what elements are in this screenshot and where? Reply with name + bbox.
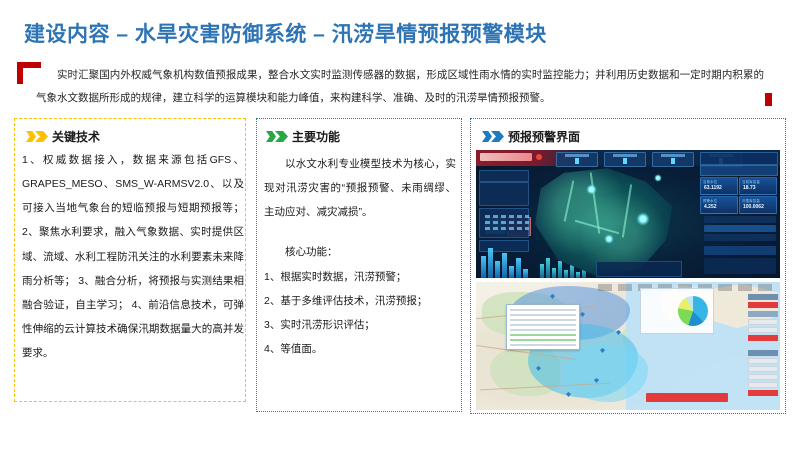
map-right-control-panel[interactable]	[748, 294, 778, 406]
panel-heading-forecast-warning-ui: 预报预警界面	[482, 128, 580, 145]
control-button-neutral-1[interactable]	[748, 319, 778, 325]
panel-heading-label: 关键技术	[52, 128, 100, 145]
popup-row	[510, 329, 576, 331]
stat-label: 当前水位	[703, 179, 717, 184]
pie-chart	[678, 296, 708, 326]
station-glow-marker[interactable]	[636, 212, 650, 226]
gis-canvas	[476, 282, 780, 410]
stat-value: 63.1192	[704, 185, 722, 191]
kpi-card-2[interactable]	[604, 152, 646, 167]
control-button-alert-3[interactable]	[748, 390, 778, 396]
right-panel-row-highlight	[704, 225, 776, 232]
station-glow-marker[interactable]	[654, 174, 662, 182]
right-panel-chart	[704, 258, 776, 274]
right-panel-title	[700, 152, 778, 165]
page-title: 建设内容 – 水旱灾害防御系统 – 汛涝旱情预报预警模块	[24, 18, 547, 48]
right-panel-row	[704, 216, 776, 223]
control-button-neutral-5[interactable]	[748, 374, 778, 380]
right-panel-row	[704, 234, 776, 241]
map-info-popup[interactable]	[506, 304, 580, 350]
stat-label: 当前库容量	[742, 179, 760, 184]
map-primary-action-button[interactable]	[646, 393, 728, 402]
alarm-dot-icon	[536, 154, 542, 160]
popup-row	[510, 344, 576, 346]
control-panel-header	[748, 311, 778, 317]
stat-card-storage: 当前库容量 18.73	[739, 177, 777, 195]
kpi-card-3[interactable]	[652, 152, 694, 167]
main-functions-intro: 以水文水利专业模型技术为核心，实现对汛涝灾害的“预报预警、未雨绸缪、主动应对、减…	[264, 152, 456, 224]
flood-zone-level3	[562, 344, 648, 402]
panel-body-key-technology: 1、权威数据接入，数据来源包括GFS、GRAPES_MESO、SMS_W-ARM…	[22, 148, 244, 365]
stat-label: 汛限库容量	[742, 198, 760, 203]
stat-value: 100.0062	[743, 204, 764, 210]
popup-row-selected[interactable]	[510, 339, 576, 341]
right-panel-section	[704, 246, 776, 255]
control-button-neutral-2[interactable]	[748, 327, 778, 333]
dashboard-title-text	[480, 153, 532, 161]
stat-value: 4.252	[704, 204, 717, 210]
control-button-neutral-6[interactable]	[748, 382, 778, 388]
decor-corner-mark-bottom-right	[765, 93, 772, 106]
left-widget-table[interactable]	[479, 208, 529, 238]
popup-row-selected[interactable]	[510, 334, 576, 336]
stat-value: 18.73	[743, 185, 756, 191]
dashboard-canvas: 当前水位 63.1192 当前库容量 18.73 预警水位 4.252 汛限库容…	[476, 150, 780, 278]
control-panel-header	[748, 350, 778, 356]
popup-row	[510, 309, 576, 311]
core-functions-label: 核心功能：	[264, 240, 456, 264]
left-widget-buttons[interactable]	[479, 182, 529, 206]
left-widget-filter[interactable]	[479, 170, 529, 182]
stat-card-flood-capacity: 汛限库容量 100.0062	[739, 196, 777, 214]
station-glow-marker[interactable]	[586, 184, 597, 195]
control-panel-header	[748, 294, 778, 300]
slide-root: 建设内容 – 水旱灾害防御系统 – 汛涝旱情预报预警模块 实时汇聚国内外权威气象…	[0, 0, 800, 450]
intro-paragraph: 实时汇聚国内外权威气象机构数值预报成果，整合水文实时监测传感器的数据，形成区域性…	[36, 64, 764, 109]
panel-body-main-functions: 以水文水利专业模型技术为核心，实现对汛涝灾害的“预报预警、未雨绸缪、主动应对、减…	[264, 152, 456, 361]
right-panel-subtitle	[700, 165, 778, 176]
double-chevron-right-icon	[482, 131, 503, 142]
core-function-item-2: 2、基于多维评估技术，汛涝预报；	[264, 295, 427, 307]
stat-label: 预警水位	[703, 198, 717, 203]
table-row	[485, 221, 529, 224]
dashboard-footer-panel	[596, 261, 682, 277]
table-row	[485, 227, 529, 230]
stat-card-warning-level: 预警水位 4.252	[700, 196, 738, 214]
panel-heading-key-technology: 关键技术	[26, 128, 100, 145]
popup-row	[510, 324, 576, 326]
control-button-alert-1[interactable]	[748, 302, 778, 308]
table-row	[485, 215, 529, 218]
panel-heading-label: 主要功能	[292, 128, 340, 145]
core-function-item-1: 1、根据实时数据，汛涝预警；	[264, 271, 406, 283]
spacer	[264, 224, 456, 240]
control-button-neutral-4[interactable]	[748, 366, 778, 372]
double-chevron-right-icon	[266, 131, 287, 142]
panel-heading-main-functions: 主要功能	[266, 128, 340, 145]
screenshot-dark-dashboard[interactable]: 当前水位 63.1192 当前库容量 18.73 预警水位 4.252 汛限库容…	[476, 150, 780, 278]
core-function-item-4: 4、等值面。	[264, 343, 322, 355]
screenshot-gis-map[interactable]	[476, 282, 780, 410]
popup-row	[510, 319, 576, 321]
kpi-card-1[interactable]	[556, 152, 598, 167]
core-function-item-3: 3、实时汛涝形识评估；	[264, 319, 375, 331]
panel-heading-label: 预报预警界面	[508, 128, 580, 145]
control-button-alert-2[interactable]	[748, 335, 778, 341]
double-chevron-right-icon	[26, 131, 47, 142]
station-glow-marker[interactable]	[604, 234, 614, 244]
stat-card-water-level: 当前水位 63.1192	[700, 177, 738, 195]
popup-row	[510, 314, 576, 316]
control-button-neutral-3[interactable]	[748, 358, 778, 364]
key-tech-item-1: 1、权威数据接入，数据来源包括GFS、GRAPES_MESO、SMS_W-ARM…	[22, 154, 244, 214]
bar-chart-left	[479, 244, 535, 278]
